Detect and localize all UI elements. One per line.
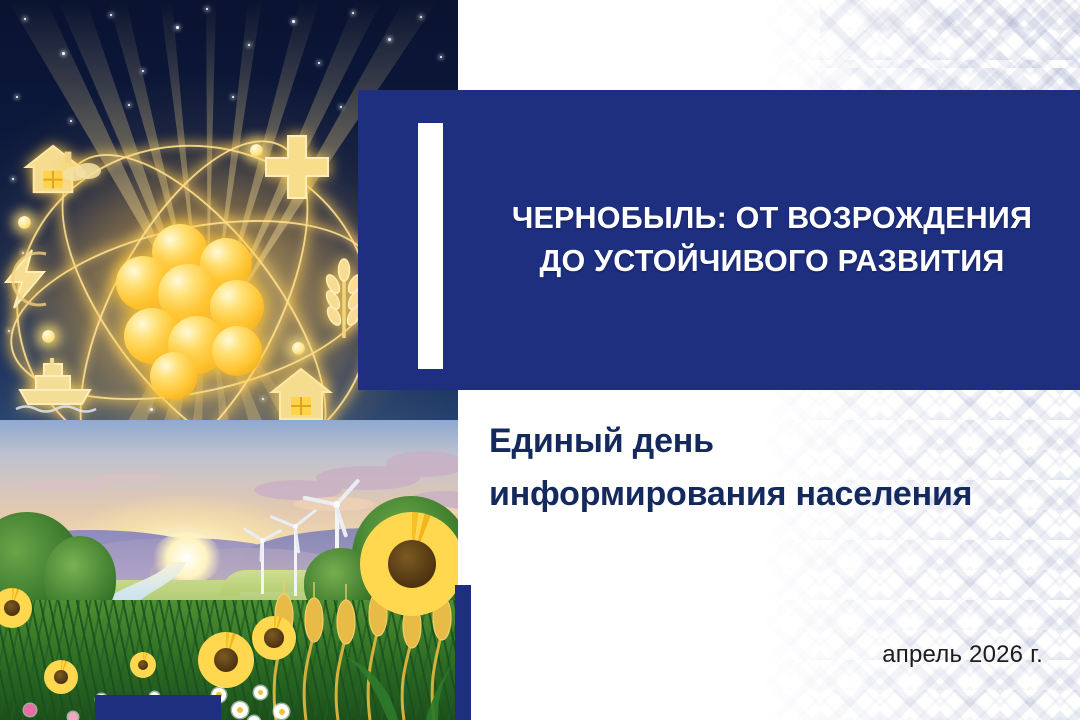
slide-subtitle-line-2: информирования населения — [489, 468, 1049, 521]
daisy-3 — [254, 686, 267, 699]
sunflower-1 — [198, 632, 254, 688]
medical-cross-icon — [262, 132, 332, 202]
sunflower-5 — [130, 652, 156, 678]
title-accent-bar — [418, 123, 443, 369]
slide-title-line-2: ДО УСТОЙЧИВОГО РАЗВИТИЯ — [482, 240, 1062, 283]
atom-nucleus — [106, 222, 282, 398]
thin-clouds — [20, 462, 180, 508]
daisy-4 — [274, 704, 289, 719]
daisy-pink-2 — [24, 704, 36, 716]
sunflower-2 — [252, 616, 296, 660]
slide-canvas: ЧЕРНОБЫЛЬ: ОТ ВОЗРОЖДЕНИЯ ДО УСТОЙЧИВОГО… — [0, 0, 1080, 720]
ship-icon — [14, 356, 98, 416]
slide-title-line-1: ЧЕРНОБЫЛЬ: ОТ ВОЗРОЖДЕНИЯ — [512, 201, 1032, 235]
daisy-2 — [232, 702, 248, 718]
electron-dot-3 — [292, 342, 305, 355]
landscape-scene — [0, 420, 458, 720]
sunflower-4 — [0, 588, 32, 628]
slide-subtitle-line-1: Единый день — [489, 422, 714, 460]
right-accent-bar — [455, 585, 471, 720]
sunflower-3 — [44, 660, 78, 694]
slide-title: ЧЕРНОБЫЛЬ: ОТ ВОЗРОЖДЕНИЯ ДО УСТОЙЧИВОГО… — [482, 197, 1062, 284]
second-house-icon — [268, 364, 334, 424]
cloud-icon — [60, 160, 106, 182]
slide-date: апрель 2026 г. — [882, 641, 1043, 669]
lightning-bolt-icon — [0, 248, 56, 310]
slide-subtitle: Единый день информирования населения — [489, 415, 1049, 520]
daisy-pink-1 — [68, 712, 78, 720]
title-banner: ЧЕРНОБЫЛЬ: ОТ ВОЗРОЖДЕНИЯ ДО УСТОЙЧИВОГО… — [358, 90, 1080, 390]
electron-dot-2 — [42, 330, 55, 343]
electron-dot-1 — [18, 216, 31, 229]
sunflower-large — [360, 512, 458, 616]
bottom-accent-bar — [95, 695, 221, 720]
